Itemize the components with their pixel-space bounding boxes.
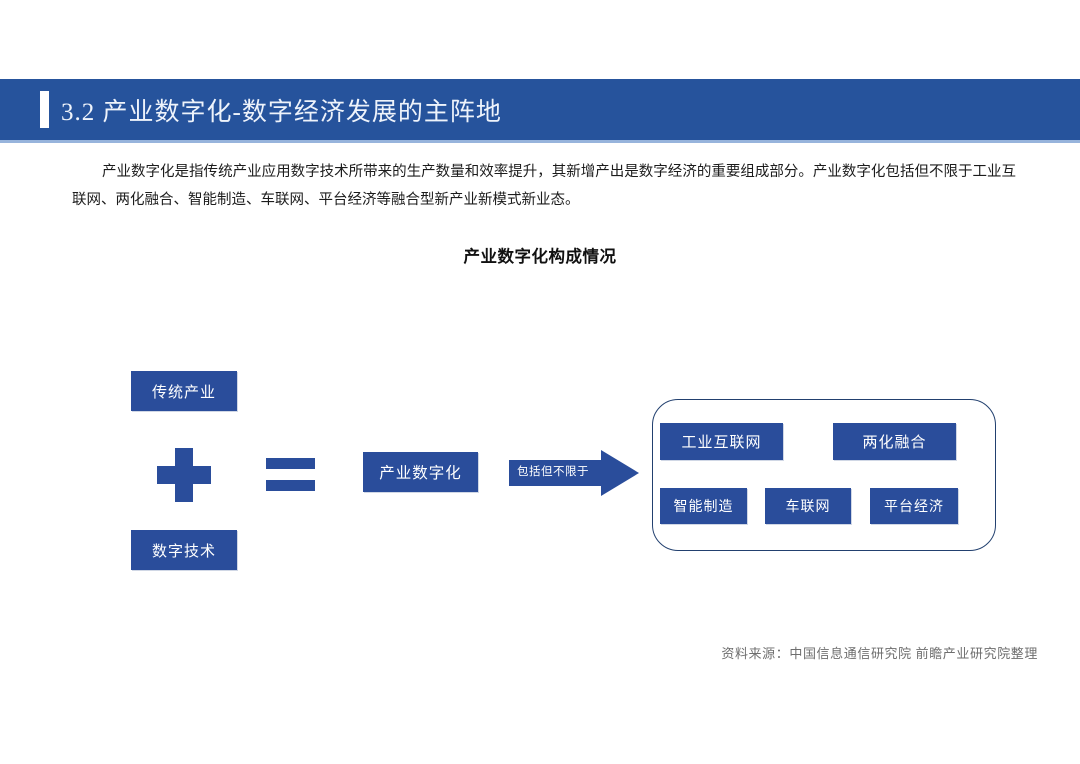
source-note: 资料来源：中国信息通信研究院 前瞻产业研究院整理 — [721, 643, 1038, 662]
equals-icon-top-bar — [266, 458, 315, 469]
component-box-two-way-integration: 两化融合 — [833, 423, 956, 460]
component-box-internet-of-vehicles: 车联网 — [765, 488, 851, 524]
page-title: 3.2 产业数字化-数字经济发展的主阵地 — [61, 92, 502, 128]
body-paragraph: 产业数字化是指传统产业应用数字技术所带来的生产数量和效率提升，其新增产出是数字经… — [72, 158, 1016, 214]
plus-icon — [157, 448, 211, 502]
title-accent-bar — [40, 91, 49, 128]
component-box-industrial-internet: 工业互联网 — [660, 423, 783, 460]
component-box-smart-manufacturing: 智能制造 — [660, 488, 747, 524]
equals-icon-bottom-bar — [266, 480, 315, 491]
diagram-result-industrial-digitalization: 产业数字化 — [363, 452, 478, 492]
diagram-input-traditional-industry: 传统产业 — [131, 371, 237, 411]
plus-icon-vertical-bar — [175, 448, 193, 502]
component-box-platform-economy: 平台经济 — [870, 488, 958, 524]
diagram-input-digital-technology: 数字技术 — [131, 530, 237, 570]
chart-caption: 产业数字化构成情况 — [0, 243, 1080, 267]
equals-icon — [266, 458, 315, 492]
arrow-icon: 包括但不限于 — [509, 450, 639, 496]
slide-title-bar: 3.2 产业数字化-数字经济发展的主阵地 — [0, 79, 1080, 143]
arrow-label: 包括但不限于 — [517, 463, 589, 479]
components-panel — [652, 399, 996, 551]
